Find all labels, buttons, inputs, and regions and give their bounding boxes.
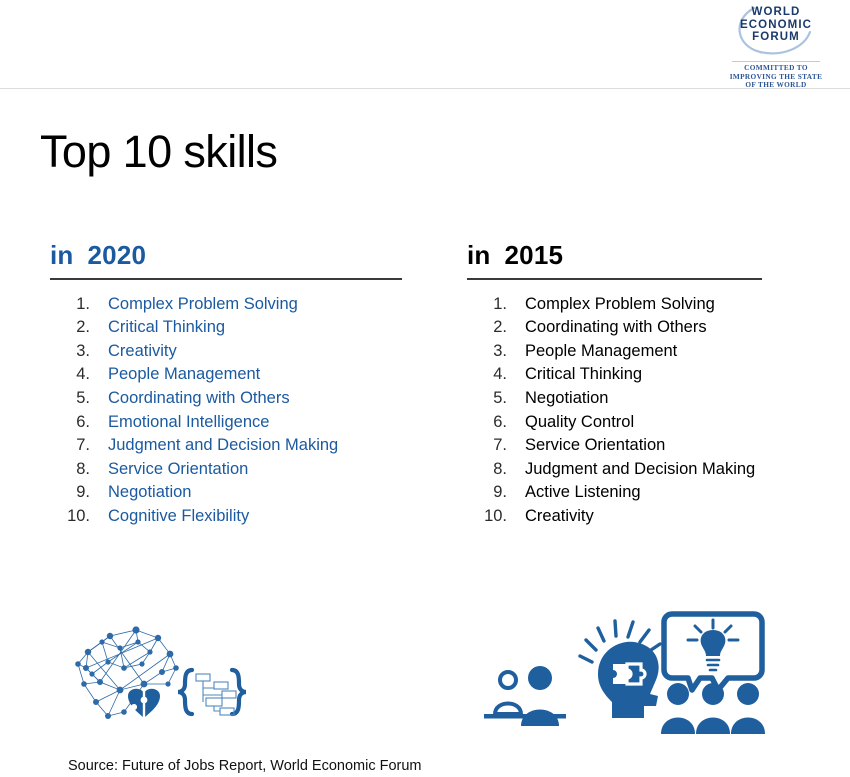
list-item-label: Creativity [525, 507, 594, 526]
list-item: 1. Complex Problem Solving [467, 295, 762, 319]
list-item-label: People Management [108, 365, 260, 384]
skills-column-2020: in2020 1. Complex Problem Solving 2. Cri… [50, 240, 402, 531]
list-item-label: Cognitive Flexibility [108, 507, 249, 526]
list-item-number: 2. [467, 318, 525, 337]
list-item-label: Judgment and Decision Making [525, 460, 755, 479]
list-item-label: People Management [525, 342, 677, 361]
list-item: 6. Quality Control [467, 413, 762, 437]
wef-tagline: COMMITTED TO IMPROVING THE STATE OF THE … [724, 64, 828, 90]
collaboration-ideas-illustration [476, 602, 766, 742]
list-item: 10. Creativity [467, 507, 762, 531]
column-year-2015: 2015 [505, 240, 564, 270]
column-header-2020: in2020 [50, 240, 402, 278]
list-item: 2. Coordinating with Others [467, 318, 762, 342]
list-item: 8. Service Orientation [50, 460, 402, 484]
list-item: 3. People Management [467, 342, 762, 366]
column-prefix-2015: in [467, 240, 491, 270]
list-item-number: 10. [467, 507, 525, 526]
column-prefix-2020: in [50, 240, 74, 270]
list-item-label: Judgment and Decision Making [108, 436, 338, 455]
list-item: 2. Critical Thinking [50, 318, 402, 342]
logo-word-forum: FORUM [724, 31, 828, 44]
three-people-audience-icon [661, 683, 765, 734]
list-item-label: Active Listening [525, 483, 641, 502]
list-item-number: 3. [50, 342, 108, 361]
list-item-number: 5. [50, 389, 108, 408]
list-item-number: 4. [50, 365, 108, 384]
wef-logo-wordmark: WORLD ECONOMIC FORUM [724, 6, 828, 44]
two-people-at-table-icon [484, 666, 566, 726]
list-item: 7. Service Orientation [467, 436, 762, 460]
list-item-label: Critical Thinking [108, 318, 225, 337]
list-item-number: 6. [467, 413, 525, 432]
list-item: 4. Critical Thinking [467, 365, 762, 389]
list-item: 3. Creativity [50, 342, 402, 366]
tagline-line-3: OF THE WORLD [724, 81, 828, 90]
list-item-number: 1. [467, 295, 525, 314]
list-item-number: 5. [467, 389, 525, 408]
skills-list-2020: 1. Complex Problem Solving 2. Critical T… [50, 295, 402, 531]
brain-network-nodes [75, 626, 179, 719]
list-item-label: Emotional Intelligence [108, 413, 269, 432]
list-item-number: 6. [50, 413, 108, 432]
list-item-label: Service Orientation [525, 436, 665, 455]
list-item-label: Critical Thinking [525, 365, 642, 384]
list-item: 9. Negotiation [50, 483, 402, 507]
list-item-label: Quality Control [525, 413, 634, 432]
list-item-number: 2. [50, 318, 108, 337]
head-with-puzzle-piece-icon [580, 621, 660, 718]
list-item-label: Complex Problem Solving [525, 295, 715, 314]
list-item-number: 4. [467, 365, 525, 384]
column-rule-2020 [50, 278, 402, 280]
list-item-label: Creativity [108, 342, 177, 361]
skills-column-2015: in2015 1. Complex Problem Solving 2. Coo… [467, 240, 762, 531]
logo-divider [732, 61, 820, 62]
source-caption: Source: Future of Jobs Report, World Eco… [68, 758, 422, 774]
list-item-number: 1. [50, 295, 108, 314]
page-header: WORLD ECONOMIC FORUM COMMITTED TO IMPROV… [0, 0, 850, 89]
list-item-number: 7. [50, 436, 108, 455]
list-item-label: Coordinating with Others [525, 318, 707, 337]
list-item: 10. Cognitive Flexibility [50, 507, 402, 531]
network-brain-illustration [58, 612, 258, 737]
wef-logo-mark: WORLD ECONOMIC FORUM [724, 4, 828, 58]
list-item-number: 7. [467, 436, 525, 455]
column-year-2020: 2020 [88, 240, 147, 270]
list-item: 7. Judgment and Decision Making [50, 436, 402, 460]
logo-word-economic: ECONOMIC [724, 19, 828, 32]
list-item-number: 8. [50, 460, 108, 479]
list-item: 4. People Management [50, 365, 402, 389]
column-rule-2015 [467, 278, 762, 280]
list-item: 1. Complex Problem Solving [50, 295, 402, 319]
list-item: 5. Negotiation [467, 389, 762, 413]
list-item-number: 8. [467, 460, 525, 479]
list-item: 9. Active Listening [467, 483, 762, 507]
wef-logo: WORLD ECONOMIC FORUM COMMITTED TO IMPROV… [724, 4, 828, 90]
list-item-number: 3. [467, 342, 525, 361]
list-item-number: 9. [50, 483, 108, 502]
heart-puzzle-icon [128, 689, 160, 718]
list-item-number: 10. [50, 507, 108, 526]
column-header-2015: in2015 [467, 240, 762, 278]
lightbulb-speech-bubble-icon [664, 614, 762, 690]
list-item-label: Service Orientation [108, 460, 248, 479]
list-item-number: 9. [467, 483, 525, 502]
list-item-label: Complex Problem Solving [108, 295, 298, 314]
list-item: 5. Coordinating with Others [50, 389, 402, 413]
list-item-label: Negotiation [108, 483, 191, 502]
page-title: Top 10 skills [40, 126, 277, 178]
code-braces-flowchart-icon [178, 670, 246, 715]
list-item: 6. Emotional Intelligence [50, 413, 402, 437]
skills-list-2015: 1. Complex Problem Solving 2. Coordinati… [467, 295, 762, 531]
list-item-label: Negotiation [525, 389, 608, 408]
logo-word-world: WORLD [724, 6, 828, 19]
list-item: 8. Judgment and Decision Making [467, 460, 762, 484]
list-item-label: Coordinating with Others [108, 389, 290, 408]
